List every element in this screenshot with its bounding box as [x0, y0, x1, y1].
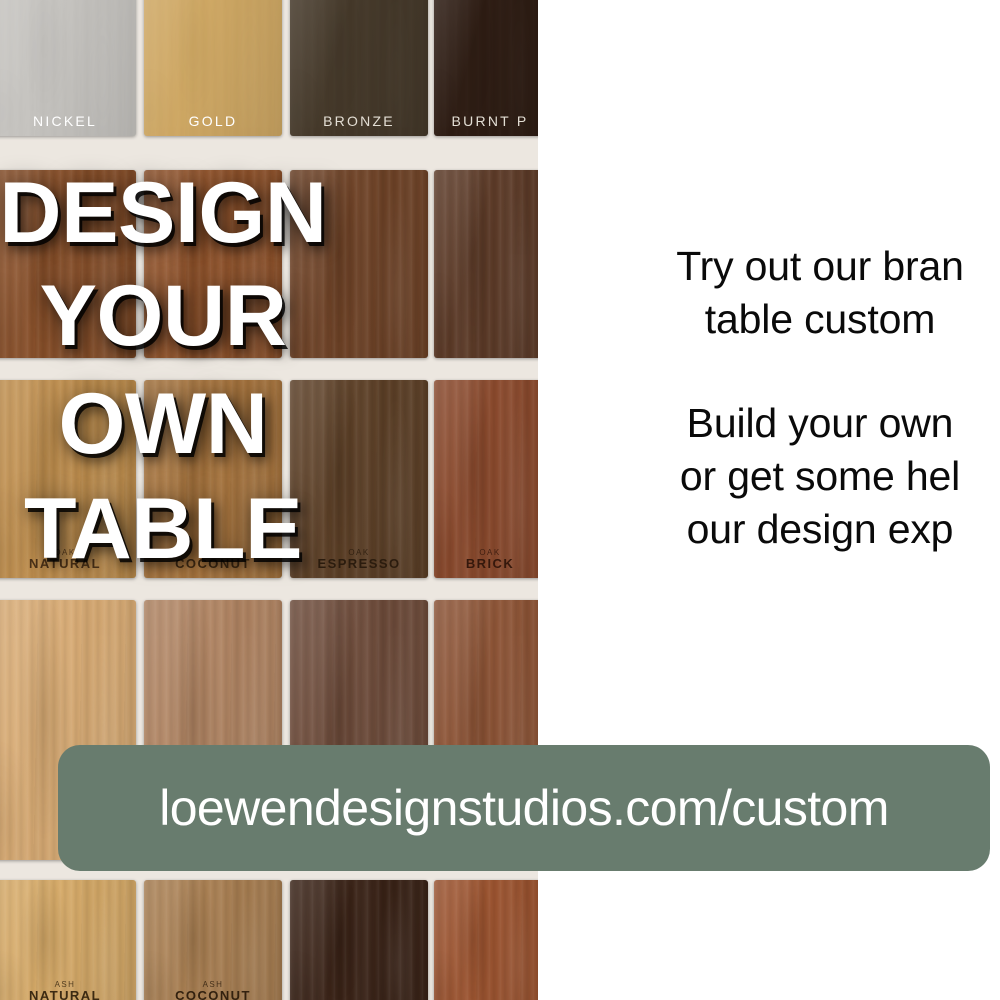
- swatch-sheen: [144, 0, 282, 136]
- material-swatch[interactable]: GOLD: [144, 0, 282, 136]
- material-swatch[interactable]: NICKEL: [0, 0, 136, 136]
- copy-line-4: or get some hel: [560, 450, 1000, 503]
- material-swatch[interactable]: ASHNATURAL: [0, 880, 136, 1000]
- material-swatch[interactable]: [434, 170, 538, 358]
- material-swatch[interactable]: BURNT P: [434, 0, 538, 136]
- ash-swatch-row: ASHNATURALASHCOCONUT: [0, 880, 538, 1000]
- copy-line-3: Build your own: [560, 397, 1000, 450]
- swatch-sheen: [434, 170, 538, 358]
- copy-line-2: table custom: [560, 293, 1000, 346]
- swatch-sheen: [0, 0, 136, 136]
- copy-line-1: Try out our bran: [560, 240, 1000, 293]
- material-swatch[interactable]: [434, 880, 538, 1000]
- walnut-swatch-row: [0, 170, 538, 370]
- material-swatch[interactable]: [290, 170, 428, 358]
- material-swatch[interactable]: OAKBRICK: [434, 380, 538, 578]
- swatch-sheen: [290, 880, 428, 1000]
- swatch-sheen: [290, 170, 428, 358]
- website-url-text: loewendesignstudios.com/custom: [159, 779, 889, 837]
- copy-line-5: our design exp: [560, 503, 1000, 556]
- swatch-sheen: [144, 170, 282, 358]
- swatch-sheen: [0, 880, 136, 1000]
- material-swatch[interactable]: OAKESPRESSO: [290, 380, 428, 578]
- swatch-sheen: [0, 380, 136, 578]
- copy-spacer: [560, 347, 1000, 397]
- material-swatch[interactable]: OAKNATURAL: [0, 380, 136, 578]
- material-swatch[interactable]: ASHCOCONUT: [144, 880, 282, 1000]
- swatch-sheen: [434, 0, 538, 136]
- material-swatch[interactable]: [290, 880, 428, 1000]
- material-swatch[interactable]: OAKCOCONUT: [144, 380, 282, 578]
- poster-canvas: NICKELGOLDBRONZEBURNT P OAKNATURALOAKCOC…: [0, 0, 1000, 1000]
- swatch-sheen: [290, 0, 428, 136]
- material-swatch[interactable]: [0, 170, 136, 358]
- swatch-sheen: [434, 380, 538, 578]
- swatch-sheen: [144, 380, 282, 578]
- metal-finish-row: NICKELGOLDBRONZEBURNT P: [0, 0, 538, 164]
- oak-swatch-row: OAKNATURALOAKCOCONUTOAKESPRESSOOAKBRICK: [0, 380, 538, 592]
- swatch-sheen: [144, 880, 282, 1000]
- material-swatch[interactable]: BRONZE: [290, 0, 428, 136]
- swatch-sheen: [290, 380, 428, 578]
- swatch-sheen: [0, 170, 136, 358]
- promo-copy: Try out our bran table custom Build your…: [560, 240, 1000, 556]
- swatch-sheen: [434, 880, 538, 1000]
- website-url-banner[interactable]: loewendesignstudios.com/custom: [58, 745, 990, 871]
- material-swatch[interactable]: [144, 170, 282, 358]
